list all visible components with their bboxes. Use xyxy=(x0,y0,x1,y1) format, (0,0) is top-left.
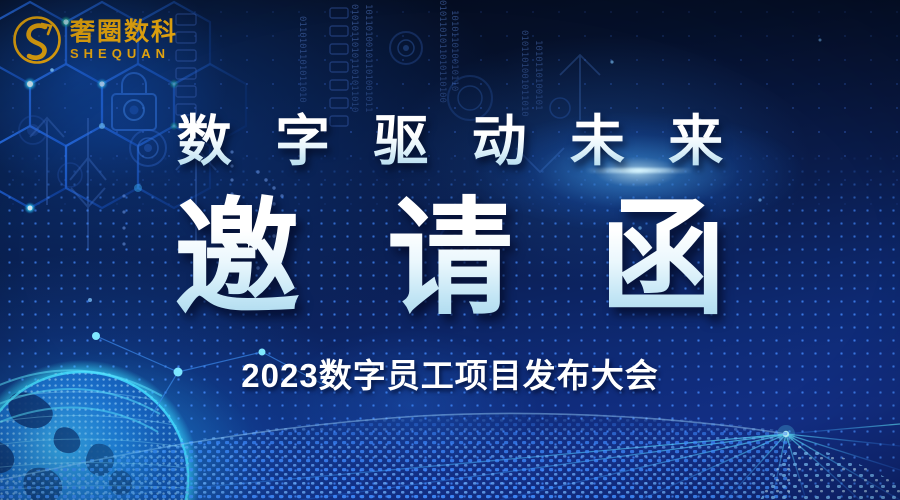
headline: 数 字 驱 动 未 来 xyxy=(0,110,900,172)
invitation-banner: 01010110101101011010 1011010010110100101… xyxy=(0,0,900,500)
shequan-emblem-icon xyxy=(12,15,62,65)
brand-logo[interactable]: 奢圈数科 SHEQUAN xyxy=(12,12,178,68)
page-title: 邀 请 函 xyxy=(0,186,900,332)
subtitle: 2023数字员工项目发布大会 xyxy=(0,356,900,396)
logo-name-en: SHEQUAN xyxy=(70,46,178,61)
banner-text-block: 数 字 驱 动 未 来 邀 请 函 2023数字员工项目发布大会 xyxy=(0,0,900,500)
logo-name-cn: 奢圈数科 xyxy=(70,19,178,46)
logo-wordmark: 奢圈数科 SHEQUAN xyxy=(70,19,178,61)
